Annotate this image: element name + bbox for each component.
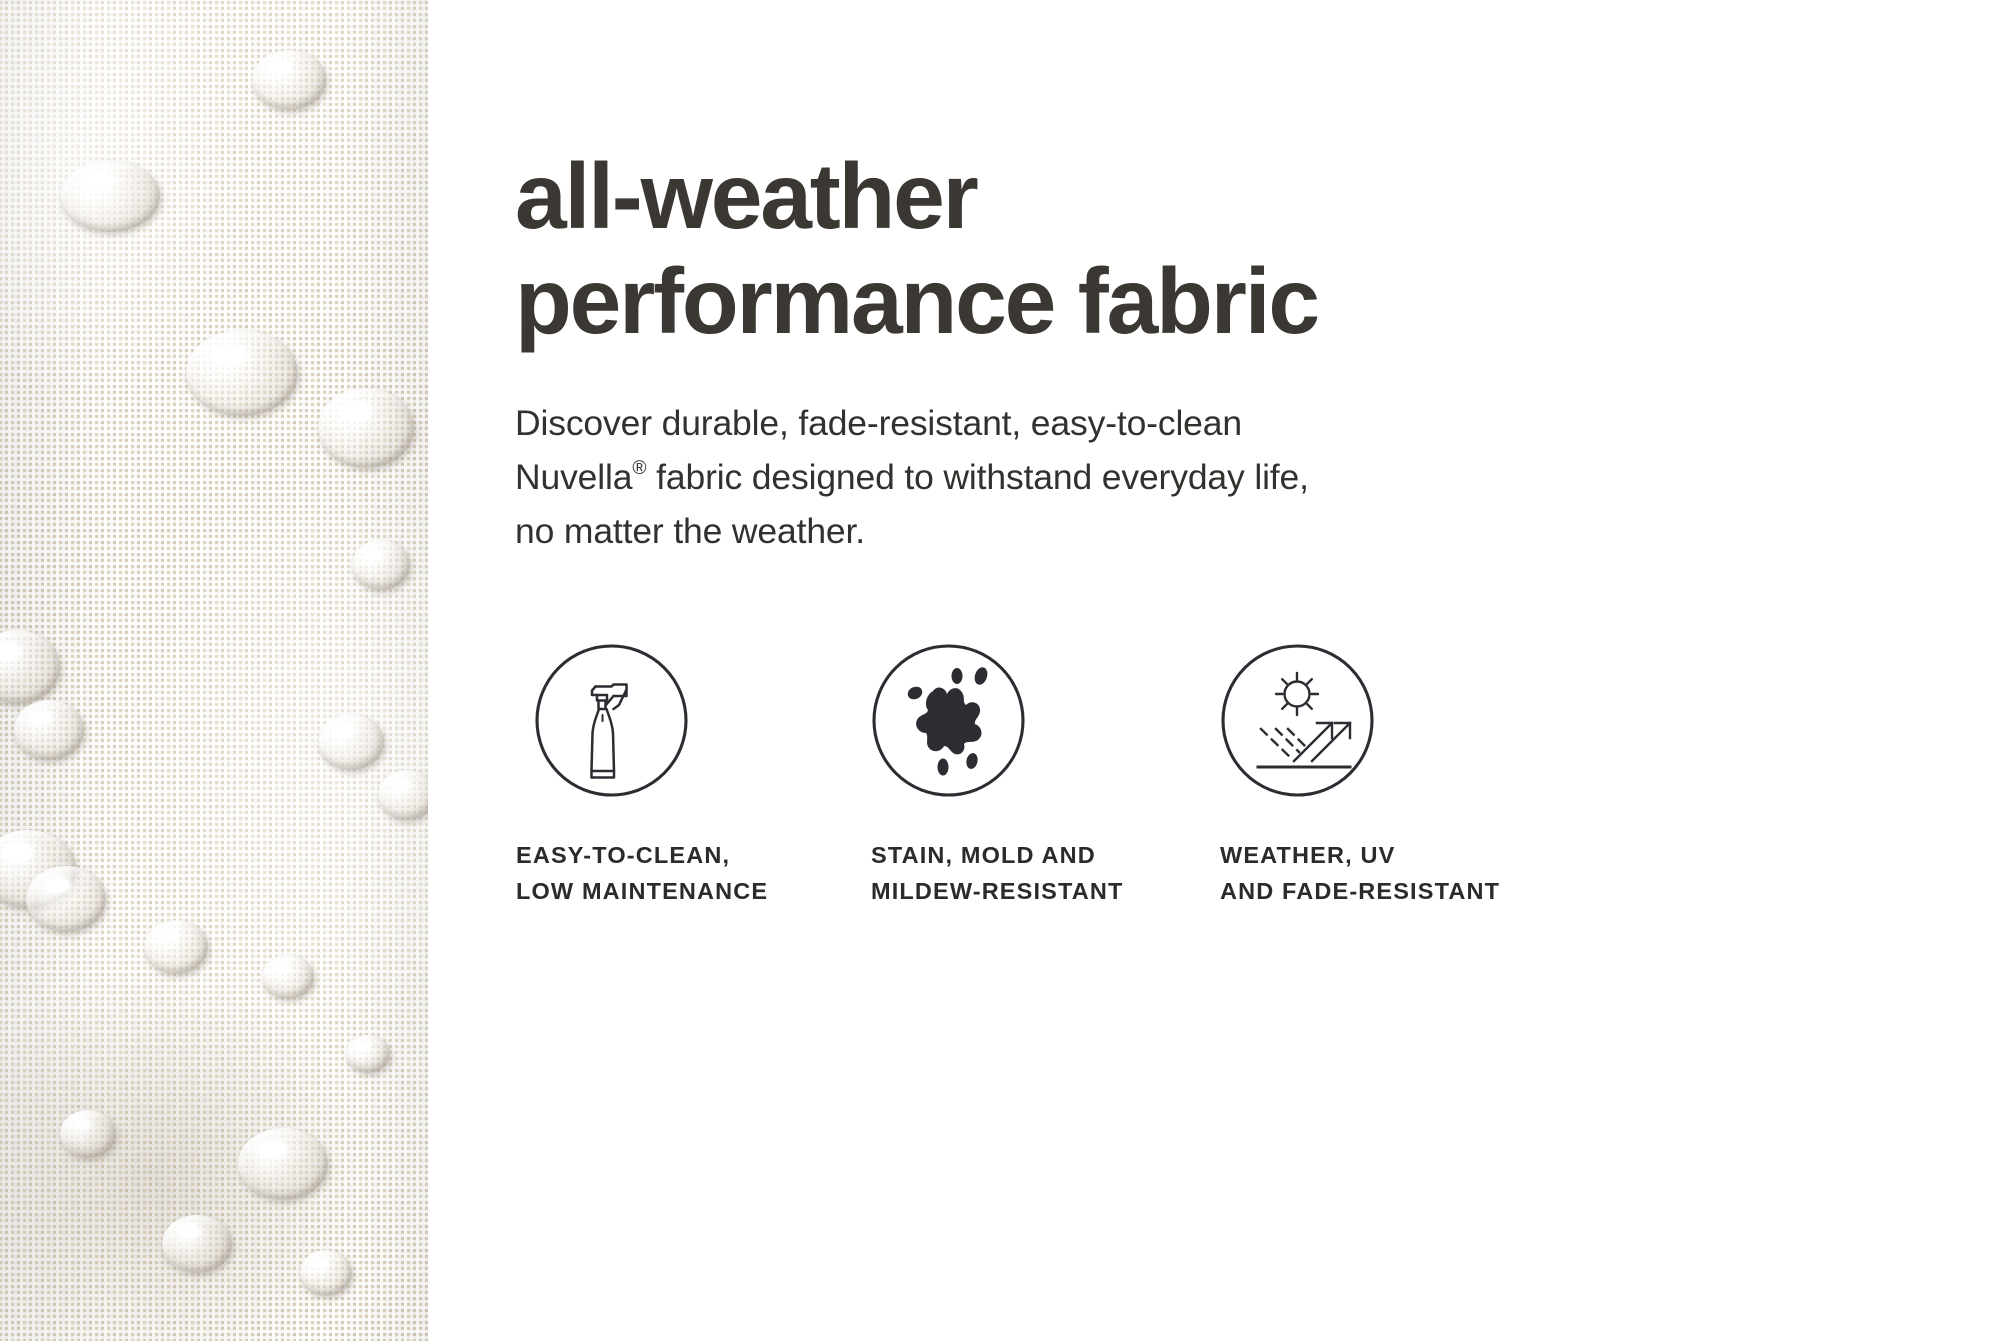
feature-caption-line-1: STAIN, MOLD AND	[871, 838, 1123, 874]
subcopy-line-1: Discover durable, fade-resistant, easy-t…	[515, 397, 1475, 451]
water-droplet	[318, 714, 384, 770]
water-droplet	[26, 866, 106, 932]
feature-caption-line-1: WEATHER, UV	[1220, 838, 1500, 874]
all-weather-fabric-banner: all-weather performance fabric Discover …	[0, 0, 2010, 1341]
content-panel: all-weather performance fabric Discover …	[428, 0, 2010, 1341]
fabric-photo-panel	[0, 0, 428, 1341]
water-droplet	[378, 770, 428, 820]
feature-caption-line-2: AND FADE-RESISTANT	[1220, 874, 1500, 910]
water-droplet	[60, 1110, 116, 1158]
water-droplet	[252, 50, 326, 110]
sun-uv-fade-icon	[1220, 643, 1375, 798]
feature-caption-line-1: EASY-TO-CLEAN,	[516, 838, 768, 874]
water-droplet	[346, 1035, 390, 1073]
water-droplet	[262, 955, 314, 999]
water-droplet	[60, 160, 160, 232]
headline: all-weather performance fabric	[515, 150, 1525, 348]
feature-caption: WEATHER, UV AND FADE-RESISTANT	[1220, 838, 1500, 909]
feature-caption-line-2: LOW MAINTENANCE	[516, 874, 768, 910]
feature-caption-line-2: MILDEW-RESISTANT	[871, 874, 1123, 910]
headline-line-2: performance fabric	[515, 255, 1525, 348]
water-droplet	[186, 330, 298, 416]
brand-name: Nuvella	[515, 457, 632, 497]
feature-item-stain-mold-mildew: STAIN, MOLD AND MILDEW-RESISTANT	[870, 643, 1220, 909]
water-droplet	[162, 1215, 232, 1273]
headline-line-1: all-weather	[515, 150, 1525, 243]
water-droplet	[352, 540, 410, 590]
feature-item-easy-to-clean: EASY-TO-CLEAN, LOW MAINTENANCE	[515, 643, 870, 909]
feature-caption: STAIN, MOLD AND MILDEW-RESISTANT	[871, 838, 1123, 909]
spray-bottle-icon	[534, 643, 689, 798]
feature-item-weather-uv-fade: WEATHER, UV AND FADE-RESISTANT	[1220, 643, 1580, 909]
subcopy-paragraph: Discover durable, fade-resistant, easy-t…	[515, 397, 1475, 559]
feature-list: EASY-TO-CLEAN, LOW MAINTENANCE	[515, 643, 1615, 909]
water-droplet	[318, 388, 414, 468]
stain-splat-icon	[871, 643, 1026, 798]
water-droplet	[300, 1250, 352, 1296]
subcopy-line-3: no matter the weather.	[515, 505, 1475, 559]
subcopy-line-2: Nuvella® fabric designed to withstand ev…	[515, 451, 1475, 505]
feature-caption: EASY-TO-CLEAN, LOW MAINTENANCE	[516, 838, 768, 909]
water-droplet	[144, 920, 208, 974]
subcopy-line-2-tail: fabric designed to withstand everyday li…	[646, 457, 1308, 497]
registered-trademark-mark: ®	[632, 458, 646, 479]
water-droplet	[238, 1128, 328, 1200]
water-droplet	[14, 700, 84, 760]
